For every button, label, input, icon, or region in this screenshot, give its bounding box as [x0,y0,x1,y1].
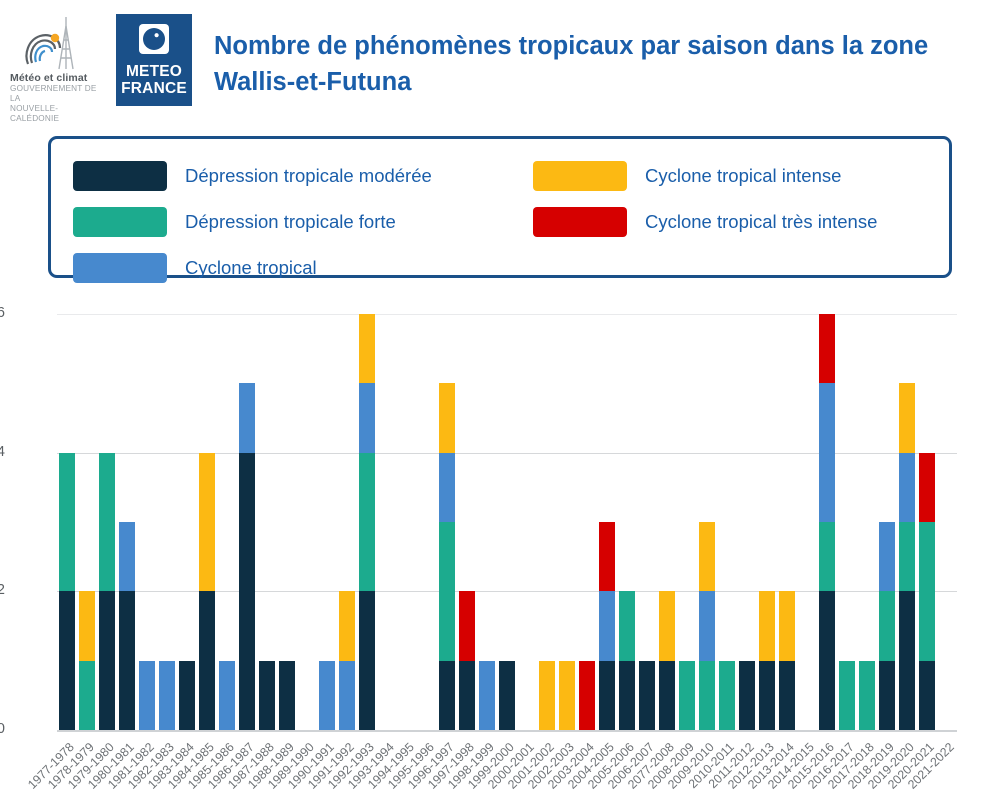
stacked-bar[interactable] [679,661,695,730]
stacked-bar[interactable] [239,383,255,730]
bar-column[interactable] [277,314,297,730]
stacked-bar[interactable] [479,661,495,730]
legend-label: Cyclone tropical très intense [645,211,877,233]
bar-segment [759,591,775,660]
logo-mf-line1: METEO [121,63,187,80]
bar-column[interactable] [657,314,677,730]
stacked-bar[interactable] [839,661,855,730]
stacked-bar[interactable] [279,661,295,730]
bar-column[interactable] [857,314,877,730]
bar-segment [819,383,835,522]
bar-column[interactable] [217,314,237,730]
bar-column[interactable] [917,314,937,730]
bar-segment [439,453,455,522]
stacked-bar[interactable] [639,661,655,730]
bar-segment [639,661,655,730]
y-axis-tick-label: 2 [0,582,5,598]
bar-segment [599,522,615,591]
bar-column[interactable] [437,314,457,730]
bar-column[interactable] [97,314,117,730]
bar-segment [879,591,895,660]
stacked-bar[interactable] [759,591,775,730]
legend-swatch-icon [73,161,167,191]
bar-column[interactable] [137,314,157,730]
logo-meteo-france: METEO FRANCE [116,14,192,106]
bar-segment [679,661,695,730]
bar-segment [139,661,155,730]
bar-segment [659,661,675,730]
bar-segment [899,591,915,730]
bar-segment [699,661,715,730]
bar-segment [599,591,615,660]
bar-column[interactable] [837,314,857,730]
legend-swatch-icon [73,207,167,237]
bar-column[interactable] [57,314,77,730]
bar-column[interactable] [297,314,317,730]
stacked-bar[interactable] [619,591,635,730]
bar-column[interactable] [697,314,717,730]
bar-segment [199,453,215,592]
bar-segment [619,591,635,660]
stacked-bar[interactable] [199,453,215,730]
stacked-bar[interactable] [459,591,475,730]
stacked-bar[interactable] [439,383,455,730]
tower-icon [55,16,77,70]
stacked-bar[interactable] [219,661,235,730]
bar-column[interactable] [617,314,637,730]
bar-segment [699,591,715,660]
stacked-bar[interactable] [179,661,195,730]
bar-column[interactable] [517,314,537,730]
stacked-bar[interactable] [599,522,615,730]
bar-series-container [57,314,957,730]
legend-swatch-icon [533,207,627,237]
bar-segment [819,314,835,383]
stacked-bar[interactable] [899,383,915,730]
bar-column[interactable] [597,314,617,730]
y-axis-tick-label: 0 [0,721,5,737]
bar-segment [439,661,455,730]
bar-column[interactable] [117,314,137,730]
bar-segment [879,522,895,591]
bar-segment [499,661,515,730]
bar-segment [359,314,375,383]
bar-column[interactable] [637,314,657,730]
bar-segment [919,661,935,730]
bar-column[interactable] [777,314,797,730]
x-axis-label-cell: 2021-2022 [937,734,957,807]
logo-nc-line3: NOUVELLE-CALÉDONIE [8,104,104,124]
stacked-bar[interactable] [319,661,335,730]
bar-segment [579,661,595,730]
stacked-bar[interactable] [159,661,175,730]
chart-area: 0246 1977-19781978-19791979-19801980-198… [0,298,1000,807]
chart-legend: Dépression tropicale modéréeCyclone trop… [48,136,952,278]
bar-segment [719,661,735,730]
legend-item[interactable]: Dépression tropicale forte [73,199,533,245]
x-axis-baseline [57,730,957,732]
bar-segment [919,453,935,522]
stacked-bar[interactable] [919,453,935,730]
bar-segment [459,661,475,730]
bar-segment [659,591,675,660]
bar-segment [819,591,835,730]
bar-segment [539,661,555,730]
page-title: Nombre de phénomènes tropicaux par saiso… [214,14,974,100]
bar-column[interactable] [817,314,837,730]
y-axis-tick-label: 6 [0,305,5,321]
stacked-bar[interactable] [859,661,875,730]
stacked-bar[interactable] [59,453,75,730]
bar-segment [859,661,875,730]
bar-column[interactable] [577,314,597,730]
bar-column[interactable] [557,314,577,730]
bar-segment [919,522,935,661]
bar-segment [359,591,375,730]
legend-item[interactable]: Dépression tropicale modérée [73,153,533,199]
bar-column[interactable] [237,314,257,730]
bar-segment [559,661,575,730]
bar-segment [759,661,775,730]
bar-segment [159,661,175,730]
bar-segment [199,591,215,730]
bar-column[interactable] [397,314,417,730]
page-header: Météo et climat GOUVERNEMENT DE LA NOUVE… [0,14,1000,114]
legend-label: Cyclone tropical [185,257,317,279]
bar-segment [119,591,135,730]
bar-segment [99,591,115,730]
bar-column[interactable] [477,314,497,730]
bar-segment [699,522,715,591]
bar-column[interactable] [317,314,337,730]
stacked-bar[interactable] [539,661,555,730]
bar-segment [339,591,355,660]
logo-nc-line1: Météo et climat [8,72,104,84]
bar-column[interactable] [737,314,757,730]
legend-item[interactable]: Cyclone tropical très intense [533,199,933,245]
stacked-bar[interactable] [119,522,135,730]
bar-segment [819,522,835,591]
meteo-france-badge-icon [139,24,169,54]
stacked-bar[interactable] [359,314,375,730]
bar-segment [239,453,255,730]
stacked-bar[interactable] [819,314,835,730]
y-axis-tick-label: 4 [0,444,5,460]
bar-segment [239,383,255,452]
stacked-bar[interactable] [259,661,275,730]
bar-segment [119,522,135,591]
bar-column[interactable] [357,314,377,730]
x-axis-labels: 1977-19781978-19791979-19801980-19811981… [57,734,957,807]
bar-column[interactable] [797,314,817,730]
legend-item[interactable]: Cyclone tropical [73,245,533,291]
logo-mf-line2: FRANCE [121,80,187,97]
bar-segment [899,522,915,591]
bar-column[interactable] [537,314,557,730]
bar-segment [739,661,755,730]
bar-column[interactable] [157,314,177,730]
bar-column[interactable] [677,314,697,730]
bar-segment [439,522,455,661]
stacked-bar[interactable] [559,661,575,730]
bar-column[interactable] [77,314,97,730]
bar-segment [259,661,275,730]
bar-segment [79,661,95,730]
bar-segment [319,661,335,730]
stacked-bar[interactable] [139,661,155,730]
bar-segment [879,661,895,730]
stacked-bar[interactable] [739,661,755,730]
bar-column[interactable] [457,314,477,730]
legend-swatch-icon [533,161,627,191]
legend-label: Dépression tropicale forte [185,211,396,233]
bar-segment [619,661,635,730]
nc-logo-mark [8,14,104,72]
bar-segment [779,591,795,660]
logo-nc-line2: GOUVERNEMENT DE LA [8,84,104,104]
bar-column[interactable] [937,314,957,730]
stacked-bar[interactable] [99,453,115,730]
bar-segment [59,591,75,730]
bar-column[interactable] [197,314,217,730]
bar-column[interactable] [337,314,357,730]
bar-column[interactable] [897,314,917,730]
bar-column[interactable] [177,314,197,730]
bar-segment [79,591,95,660]
stacked-bar[interactable] [579,661,595,730]
stacked-bar[interactable] [719,661,735,730]
legend-item[interactable]: Cyclone tropical intense [533,153,933,199]
bar-segment [439,383,455,452]
bar-segment [219,661,235,730]
bar-column[interactable] [877,314,897,730]
bar-column[interactable] [717,314,737,730]
bar-segment [279,661,295,730]
stacked-bar[interactable] [659,591,675,730]
bar-segment [459,591,475,660]
bar-segment [479,661,495,730]
bar-segment [899,383,915,452]
legend-label: Cyclone tropical intense [645,165,841,187]
logo-meteo-et-climat-nouvelle-caledonie: Météo et climat GOUVERNEMENT DE LA NOUVE… [8,14,104,112]
bar-segment [59,453,75,592]
bar-segment [899,453,915,522]
chart-page: Météo et climat GOUVERNEMENT DE LA NOUVE… [0,0,1000,807]
bar-column[interactable] [417,314,437,730]
bar-segment [339,661,355,730]
bar-column[interactable] [377,314,397,730]
bar-segment [359,453,375,592]
stacked-bar[interactable] [879,522,895,730]
bar-segment [359,383,375,452]
stacked-bar[interactable] [339,591,355,730]
bar-segment [839,661,855,730]
legend-swatch-icon [73,253,167,283]
bar-column[interactable] [257,314,277,730]
bar-column[interactable] [497,314,517,730]
bar-segment [599,661,615,730]
stacked-bar[interactable] [79,591,95,730]
stacked-bar[interactable] [779,591,795,730]
legend-label: Dépression tropicale modérée [185,165,432,187]
bar-segment [99,453,115,592]
bar-column[interactable] [757,314,777,730]
stacked-bar[interactable] [499,661,515,730]
bar-segment [779,661,795,730]
bar-segment [179,661,195,730]
stacked-bar[interactable] [699,522,715,730]
